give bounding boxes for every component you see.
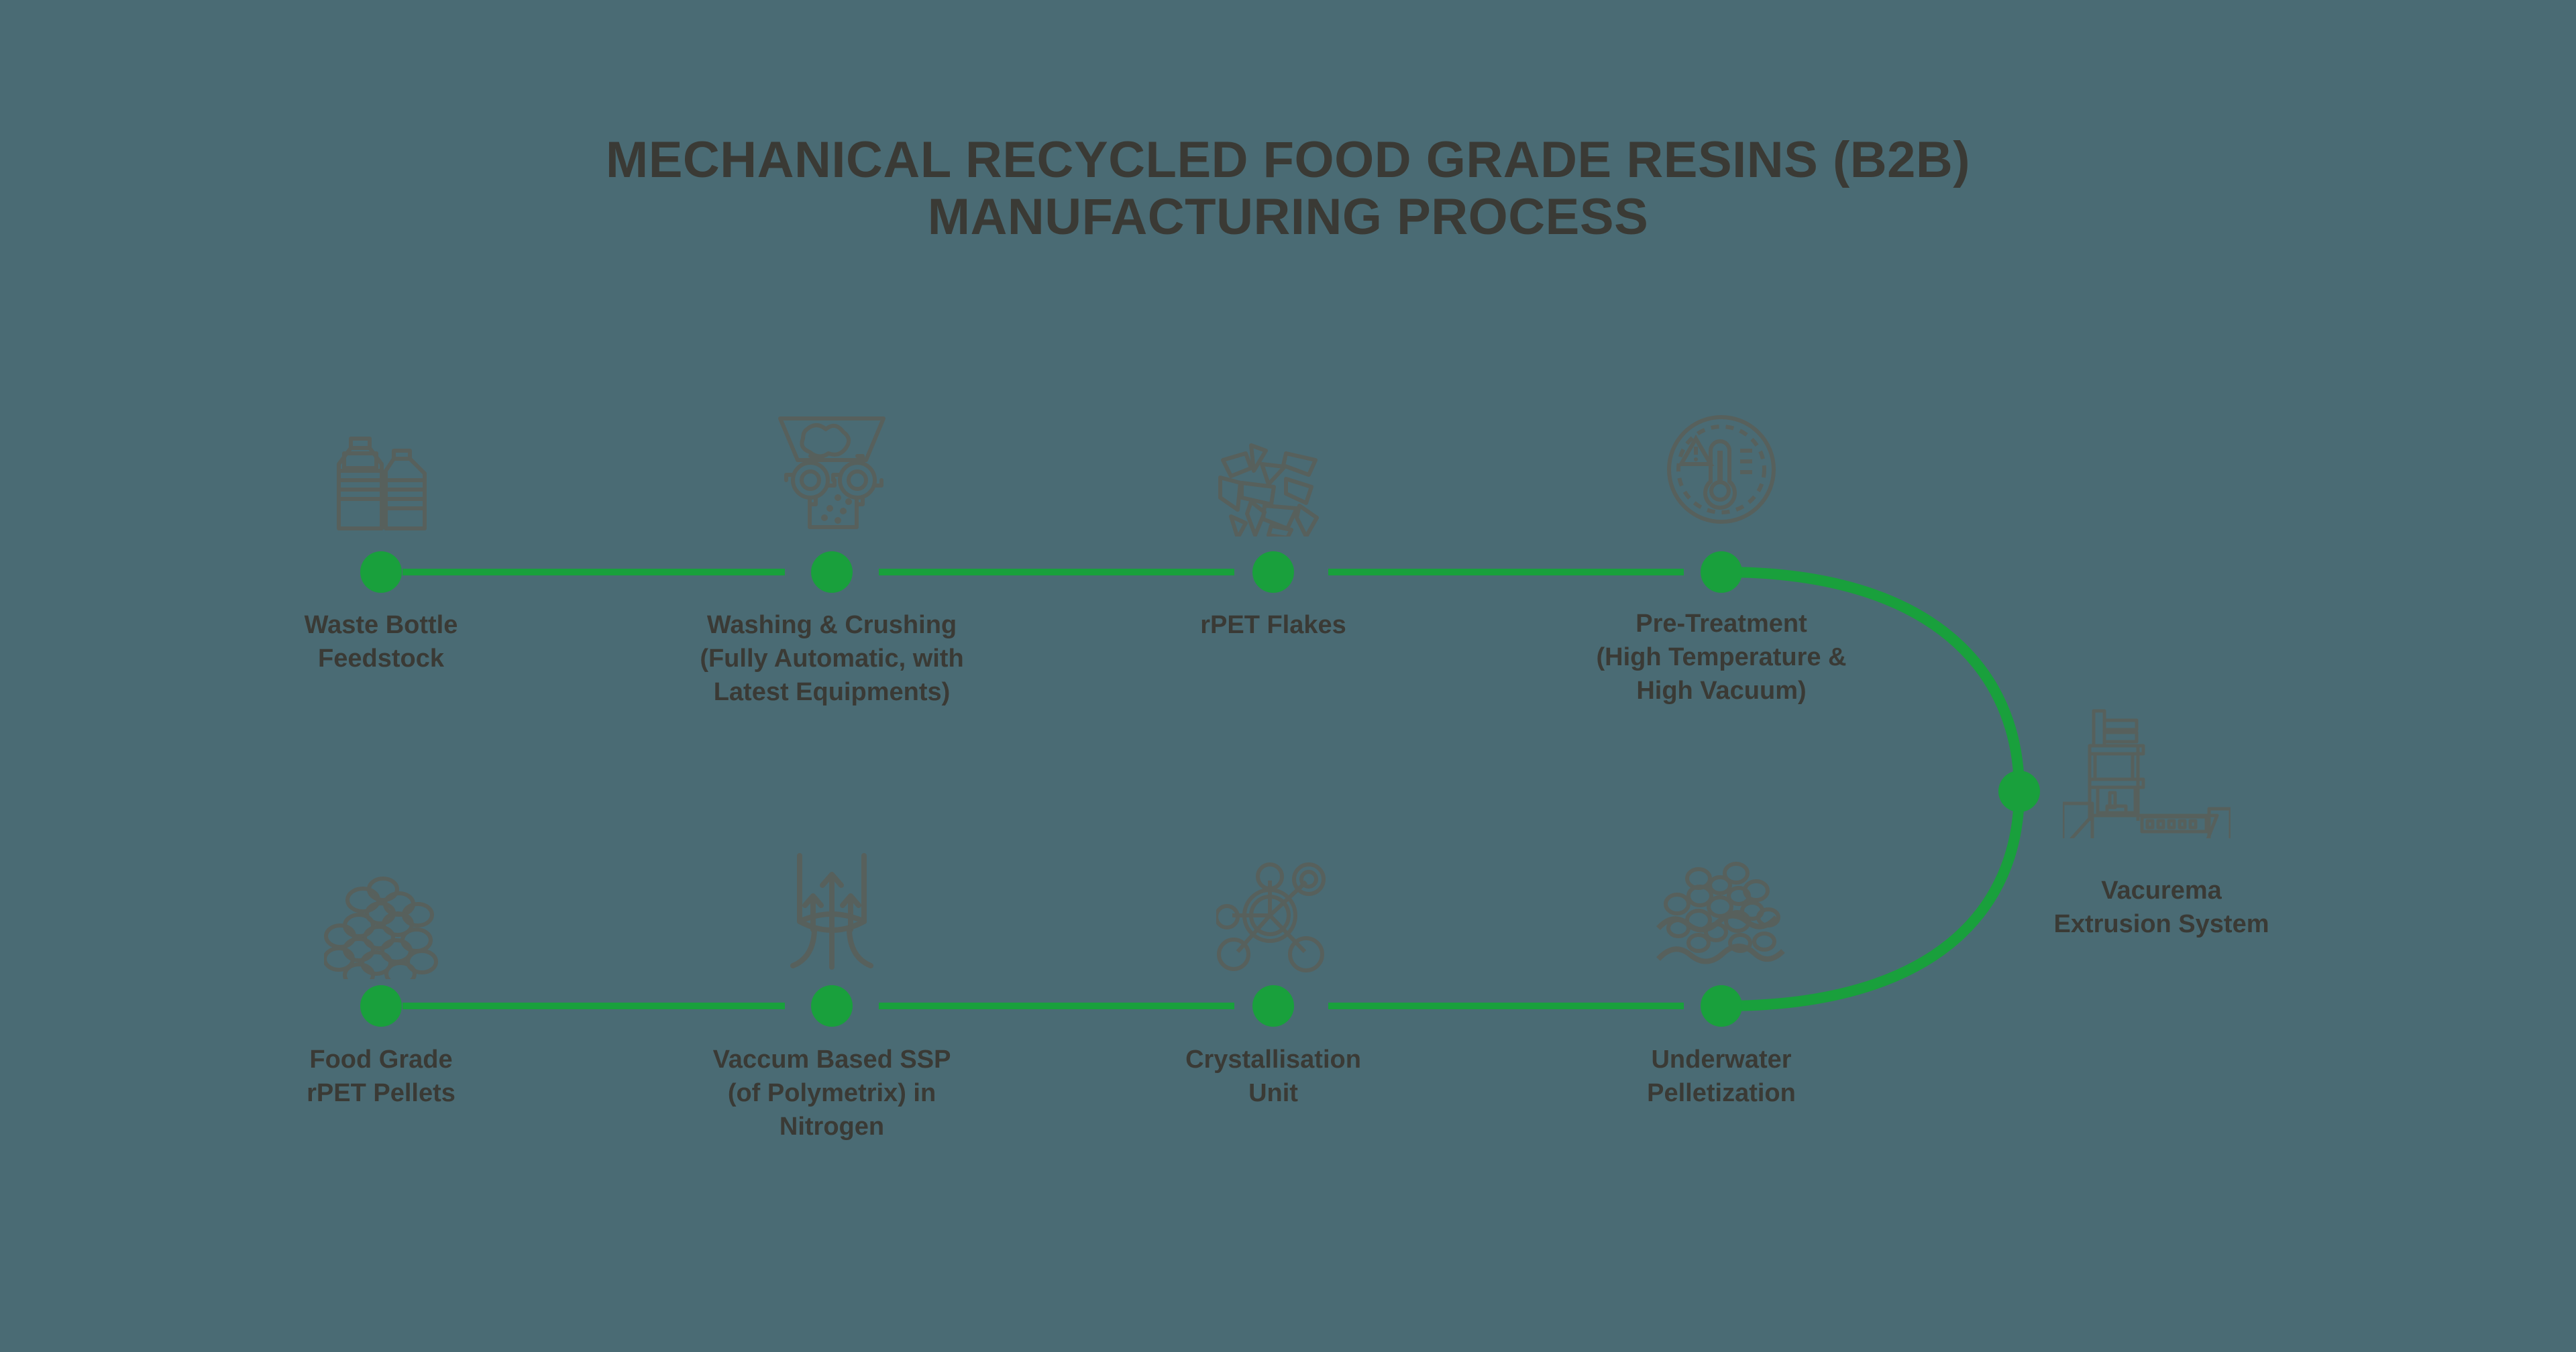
step-dot-6[interactable] xyxy=(1701,985,1742,1027)
step-dot-9[interactable] xyxy=(360,985,402,1027)
step-label-washing-crushing: Washing & Crushing (Fully Automatic, wit… xyxy=(678,609,986,709)
gear-hopper-crusher-icon xyxy=(751,396,912,530)
diagram-canvas: MECHANICAL RECYCLED FOOD GRADE RESINS (B… xyxy=(0,0,2576,1352)
thermometer-warning-icon xyxy=(1641,396,1802,530)
step-node-ssp[interactable]: Vaccum Based SSP (of Polymetrix) in Nitr… xyxy=(678,1044,986,1143)
step-label-crystallisation: Crystallisation Unit xyxy=(1119,1044,1428,1111)
step-label-waste-bottle: Waste Bottle Feedstock xyxy=(227,609,535,676)
step-dot-3[interactable] xyxy=(1252,551,1294,593)
step-node-food-grade-pellets[interactable]: Food Grade rPET Pellets xyxy=(227,1044,535,1111)
step-label-pre-treatment: Pre-Treatment (High Temperature & High V… xyxy=(1567,608,1876,708)
step-dot-1[interactable] xyxy=(360,551,402,593)
step-dot-7[interactable] xyxy=(1252,985,1294,1027)
step-label-rpet-flakes: rPET Flakes xyxy=(1119,609,1428,642)
step-node-pre-treatment[interactable]: Pre-Treatment (High Temperature & High V… xyxy=(1567,608,1876,708)
pellets-in-water-icon xyxy=(1641,838,1802,972)
step-label-food-grade-pellets: Food Grade rPET Pellets xyxy=(227,1044,535,1111)
step-node-waste-bottle[interactable]: Waste Bottle Feedstock xyxy=(227,609,535,676)
title-line-1: MECHANICAL RECYCLED FOOD GRADE RESINS (B… xyxy=(0,131,2576,188)
pellets-icon xyxy=(301,845,462,979)
extrusion-machine-icon xyxy=(2046,704,2247,838)
plastic-bottles-icon xyxy=(301,402,462,537)
step-dot-5[interactable] xyxy=(1998,771,2040,812)
step-label-vacurema: Vacurema Extrusion System xyxy=(1987,875,2336,942)
molecule-icon xyxy=(1193,838,1354,972)
step-dot-2[interactable] xyxy=(811,551,853,593)
step-label-ssp: Vaccum Based SSP (of Polymetrix) in Nitr… xyxy=(678,1044,986,1143)
step-node-crystallisation[interactable]: Crystallisation Unit xyxy=(1119,1044,1428,1111)
step-node-washing-crushing[interactable]: Washing & Crushing (Fully Automatic, wit… xyxy=(678,609,986,709)
step-label-underwater-pelletization: Underwater Pelletization xyxy=(1567,1044,1876,1111)
flakes-icon xyxy=(1193,402,1354,537)
step-node-vacurema[interactable]: Vacurema Extrusion System xyxy=(1987,875,2336,942)
rising-arrows-vessel-icon xyxy=(751,838,912,972)
step-dot-4[interactable] xyxy=(1701,551,1742,593)
step-node-rpet-flakes[interactable]: rPET Flakes xyxy=(1119,609,1428,642)
step-dot-8[interactable] xyxy=(811,985,853,1027)
title-line-2: MANUFACTURING PROCESS xyxy=(0,188,2576,245)
page-title: MECHANICAL RECYCLED FOOD GRADE RESINS (B… xyxy=(0,131,2576,245)
step-node-underwater-pelletization[interactable]: Underwater Pelletization xyxy=(1567,1044,1876,1111)
